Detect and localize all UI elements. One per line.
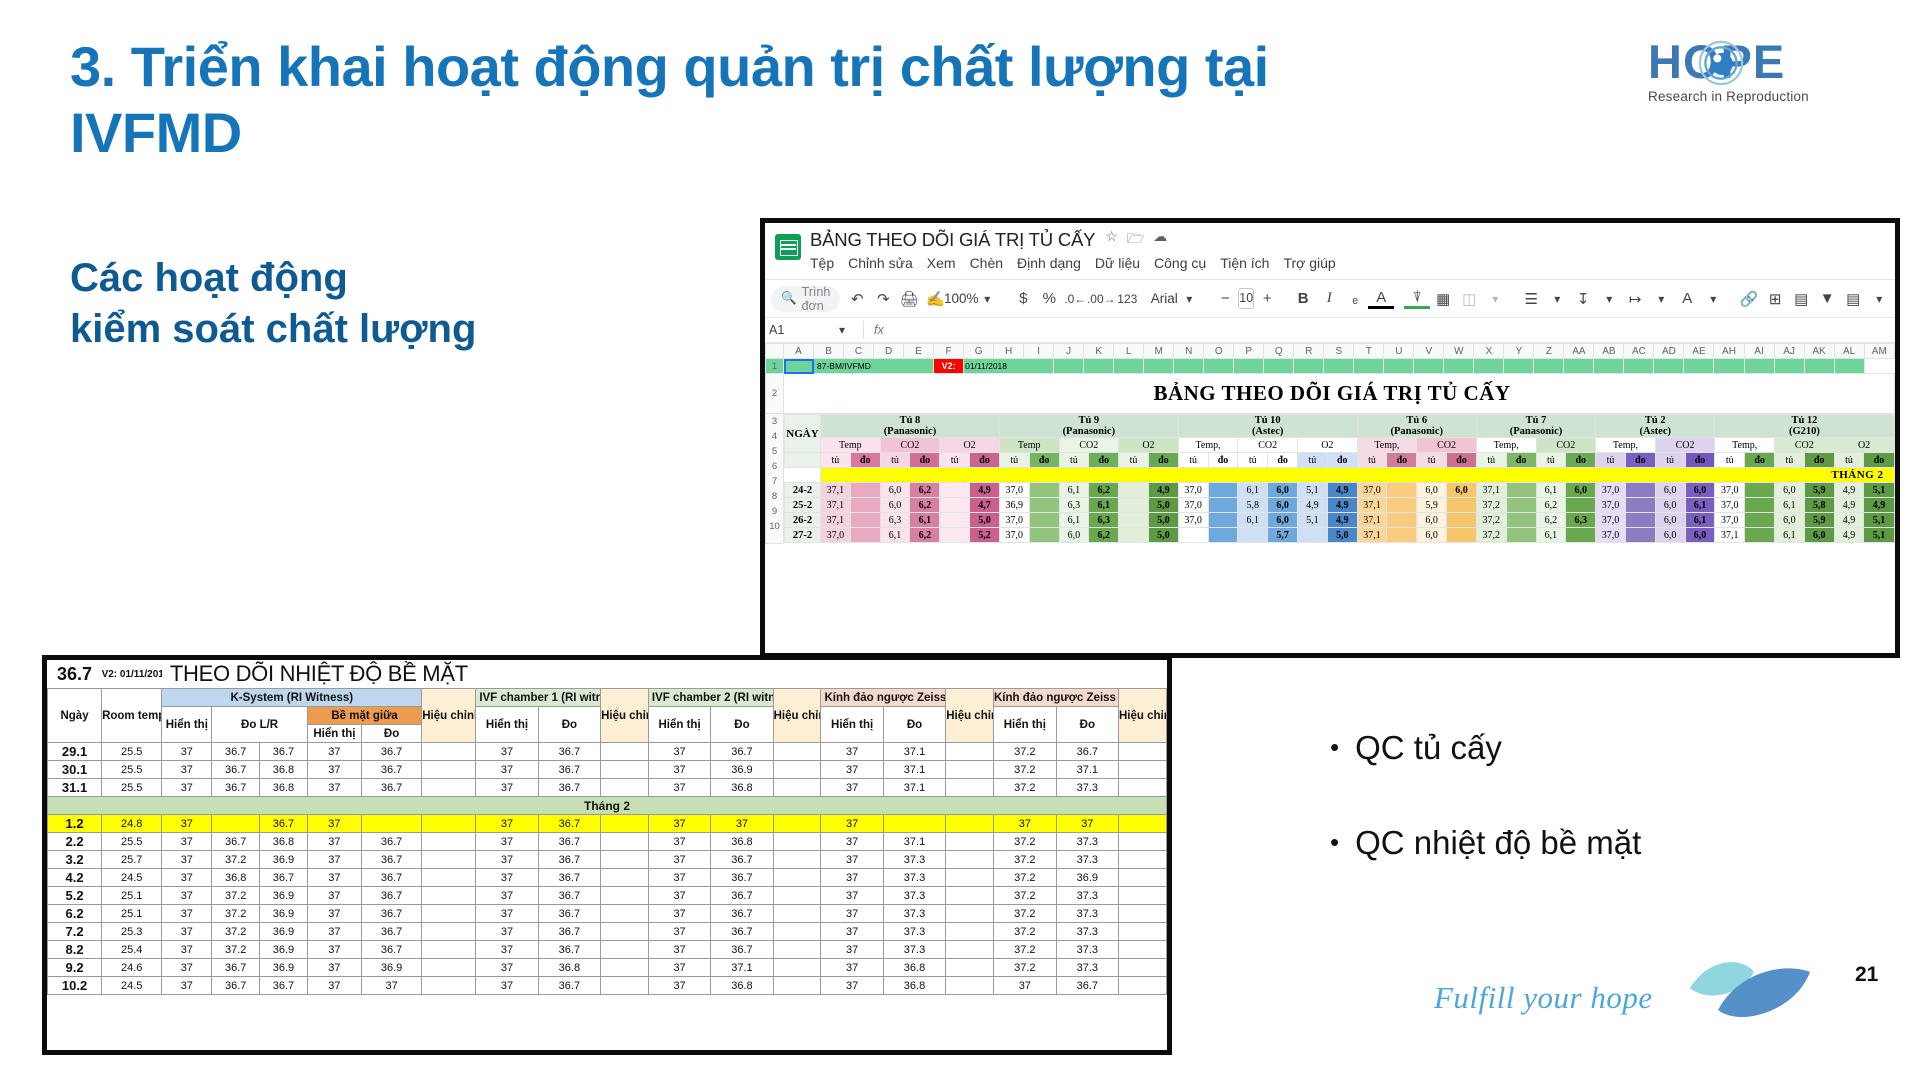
report-cell[interactable] xyxy=(1119,528,1149,543)
temp-cell[interactable] xyxy=(1119,815,1167,833)
temp-cell[interactable]: 36.9 xyxy=(361,959,421,977)
temp-cell[interactable]: 37.3 xyxy=(1056,851,1118,869)
temp-cell[interactable] xyxy=(1119,743,1167,761)
temp-cell[interactable]: 37 xyxy=(476,923,538,941)
temp-cell[interactable]: 37 xyxy=(361,977,421,995)
temp-cell[interactable] xyxy=(773,977,821,995)
sheet-row-1[interactable]: 187-BM/IVFMDV2:01/11/2018 xyxy=(766,359,1895,374)
report-cell[interactable]: 6,0 xyxy=(1655,513,1685,528)
report-cell[interactable]: 4,9 xyxy=(1834,528,1864,543)
temp-cell[interactable]: 37.3 xyxy=(1056,959,1118,977)
report-cell[interactable] xyxy=(1625,528,1655,543)
font-chevron-down-icon[interactable]: ▾ xyxy=(1176,285,1202,313)
report-data-row[interactable]: 24-237,16,06,24,937,06,16,24,937,06,16,0… xyxy=(785,483,1895,498)
text-wrap-icon[interactable]: ↦ xyxy=(1622,285,1648,313)
temp-cell-day[interactable]: 10.2 xyxy=(48,977,102,995)
temp-cell[interactable]: 37 xyxy=(821,905,883,923)
font-size-input[interactable]: 10 xyxy=(1238,288,1254,309)
temp-cell[interactable]: 36.8 xyxy=(212,869,260,887)
undo-icon[interactable]: ↶ xyxy=(844,285,870,313)
temp-cell[interactable]: 37 xyxy=(994,815,1057,833)
namebox-chevron-down-icon[interactable]: ▾ xyxy=(829,316,855,344)
temp-cell[interactable] xyxy=(946,851,994,869)
report-cell[interactable] xyxy=(940,513,970,528)
temp-cell[interactable]: 37.3 xyxy=(883,851,945,869)
temp-cell-day[interactable]: 4.2 xyxy=(48,869,102,887)
report-cell[interactable] xyxy=(1745,498,1775,513)
row-header-1[interactable]: 1 xyxy=(766,359,784,374)
column-header-s[interactable]: S xyxy=(1324,344,1354,359)
cell-empty[interactable] xyxy=(1414,359,1444,374)
functions-chevron-down-icon[interactable]: ▾ xyxy=(1866,285,1892,313)
row-header-group[interactable]: 345678910 xyxy=(766,414,784,544)
merge-cells-icon[interactable]: ◫ xyxy=(1456,285,1482,313)
temp-cell[interactable] xyxy=(422,941,476,959)
cell-a1[interactable] xyxy=(784,359,814,374)
temp-cell[interactable]: 36.7 xyxy=(361,869,421,887)
temp-cell[interactable]: 37 xyxy=(821,779,883,797)
temp-cell[interactable] xyxy=(601,743,649,761)
report-cell[interactable]: 37,0 xyxy=(1357,483,1387,498)
report-data-row[interactable]: 26-237,16,36,15,037,06,16,35,037,06,16,0… xyxy=(785,513,1895,528)
report-cell[interactable]: 6,0 xyxy=(1417,528,1447,543)
table-row[interactable]: 2.225.53736.736.83736.73736.73736.83737.… xyxy=(48,833,1167,851)
report-cell[interactable]: 6,1 xyxy=(1775,528,1805,543)
temp-cell-day[interactable]: 3.2 xyxy=(48,851,102,869)
report-cell-day[interactable]: 24-2 xyxy=(785,483,821,498)
temp-cell[interactable]: 36.8 xyxy=(883,977,945,995)
temp-cell[interactable]: 37.1 xyxy=(883,779,945,797)
report-cell[interactable]: 37,0 xyxy=(1178,513,1208,528)
temp-cell[interactable]: 37 xyxy=(711,815,773,833)
temp-cell[interactable]: 36.7 xyxy=(538,887,600,905)
temp-cell[interactable] xyxy=(946,761,994,779)
temp-cell[interactable]: 36.7 xyxy=(711,869,773,887)
temp-cell[interactable]: 37 xyxy=(476,959,538,977)
report-cell[interactable] xyxy=(1298,528,1328,543)
report-cell[interactable]: 37,0 xyxy=(821,528,851,543)
cell-empty[interactable] xyxy=(1594,359,1624,374)
report-cell[interactable]: 37,0 xyxy=(1178,483,1208,498)
temp-cell[interactable]: 37.3 xyxy=(883,887,945,905)
temp-cell[interactable]: 37 xyxy=(307,887,361,905)
cell-empty[interactable] xyxy=(1834,359,1864,374)
temp-cell[interactable]: 37 xyxy=(648,887,710,905)
cell-empty[interactable] xyxy=(1114,359,1144,374)
report-cell[interactable]: 37,2 xyxy=(1476,513,1506,528)
temp-cell[interactable]: 37 xyxy=(648,941,710,959)
temp-cell[interactable] xyxy=(422,743,476,761)
report-cell-day[interactable]: 27-2 xyxy=(785,528,821,543)
report-cell[interactable]: 6,0 xyxy=(1059,528,1089,543)
table-row[interactable]: 31.125.53736.736.83736.73736.73736.83737… xyxy=(48,779,1167,797)
temp-cell[interactable]: 37 xyxy=(162,815,212,833)
temp-cell[interactable] xyxy=(773,959,821,977)
temp-cell[interactable]: 36.8 xyxy=(260,833,308,851)
temp-cell[interactable] xyxy=(601,959,649,977)
report-cell[interactable]: 6,2 xyxy=(910,483,940,498)
temp-cell[interactable]: 37 xyxy=(162,923,212,941)
table-row[interactable]: 5.225.13737.236.93736.73736.73736.73737.… xyxy=(48,887,1167,905)
temp-cell[interactable]: 36.7 xyxy=(260,743,308,761)
report-cell[interactable]: 6,3 xyxy=(880,513,910,528)
temp-cell[interactable]: 37.2 xyxy=(994,833,1057,851)
temp-cell[interactable]: 37.3 xyxy=(883,941,945,959)
report-cell[interactable] xyxy=(1208,483,1238,498)
cell-empty[interactable] xyxy=(1774,359,1804,374)
temp-cell-roomtemp[interactable]: 25.1 xyxy=(102,905,162,923)
report-cell[interactable]: 6,0 xyxy=(1655,498,1685,513)
temp-cell[interactable]: 37 xyxy=(162,905,212,923)
move-to-folder-icon[interactable]: 🗁 xyxy=(1127,228,1144,252)
report-cell[interactable] xyxy=(940,498,970,513)
report-cell[interactable] xyxy=(940,483,970,498)
report-cell[interactable]: 6,1 xyxy=(1089,498,1119,513)
cell-empty[interactable] xyxy=(1654,359,1684,374)
temp-cell-day[interactable]: 9.2 xyxy=(48,959,102,977)
insert-chart-icon[interactable]: ▤ xyxy=(1788,285,1814,313)
report-cell[interactable] xyxy=(1447,498,1477,513)
column-header-n[interactable]: N xyxy=(1174,344,1204,359)
search-menus-box[interactable]: 🔍 Trình đơn xyxy=(771,286,840,312)
temp-cell[interactable]: 36.7 xyxy=(212,833,260,851)
temp-cell[interactable]: 37 xyxy=(476,743,538,761)
column-header-h[interactable]: H xyxy=(994,344,1024,359)
report-cell[interactable]: 5,9 xyxy=(1417,498,1447,513)
temp-cell[interactable] xyxy=(773,743,821,761)
report-cell-day[interactable]: 25-2 xyxy=(785,498,821,513)
report-cell[interactable]: 6,0 xyxy=(1775,483,1805,498)
temp-cell[interactable]: 37.2 xyxy=(212,887,260,905)
borders-icon[interactable]: ▦ xyxy=(1430,285,1456,313)
increase-decimal-icon[interactable]: .00→ xyxy=(1088,285,1114,313)
report-cell[interactable]: 6,0 xyxy=(880,498,910,513)
table-row[interactable]: 30.125.53736.736.83736.73736.73736.93737… xyxy=(48,761,1167,779)
temp-cell[interactable]: 37 xyxy=(307,851,361,869)
cell-empty[interactable] xyxy=(1234,359,1264,374)
column-header-ab[interactable]: AB xyxy=(1594,344,1624,359)
decrease-font-size-button[interactable]: − xyxy=(1212,285,1238,313)
report-cell[interactable]: 37,0 xyxy=(1596,513,1626,528)
report-cell[interactable]: 37,1 xyxy=(1357,498,1387,513)
report-cell[interactable] xyxy=(1029,483,1059,498)
report-cell[interactable] xyxy=(1447,528,1477,543)
temp-cell[interactable]: 37.2 xyxy=(994,905,1057,923)
temp-cell[interactable]: 36.7 xyxy=(361,923,421,941)
report-cell[interactable] xyxy=(850,513,880,528)
menu-item-chinh-sua[interactable]: Chỉnh sửa xyxy=(848,255,913,271)
report-cell[interactable]: 6,0 xyxy=(880,483,910,498)
menu-item-tep[interactable]: Tệp xyxy=(810,255,834,271)
temp-cell[interactable]: 36.7 xyxy=(538,761,600,779)
report-cell[interactable] xyxy=(1029,513,1059,528)
report-cell[interactable]: 6,0 xyxy=(1417,483,1447,498)
temp-cell[interactable]: 37.1 xyxy=(883,761,945,779)
report-cell[interactable]: 37,0 xyxy=(1596,498,1626,513)
report-cell[interactable]: 6,0 xyxy=(1685,483,1715,498)
report-cell[interactable]: 4,9 xyxy=(1148,483,1178,498)
cell-empty[interactable] xyxy=(1624,359,1654,374)
cell-empty[interactable] xyxy=(1354,359,1384,374)
report-cell[interactable] xyxy=(1506,483,1536,498)
cell-empty[interactable] xyxy=(1204,359,1234,374)
report-cell[interactable]: 4,9 xyxy=(970,483,1000,498)
report-cell[interactable]: 37,1 xyxy=(1476,483,1506,498)
table-row[interactable]: 4.224.53736.836.73736.73736.73736.73737.… xyxy=(48,869,1167,887)
column-header-z[interactable]: Z xyxy=(1534,344,1564,359)
currency-format-icon[interactable]: $ xyxy=(1010,285,1036,313)
sheets-toolbar[interactable]: 🔍 Trình đơn ↶ ↷ 🖨 ✍ 100% ▾ $ % .0← .00→ … xyxy=(765,279,1895,317)
report-cell[interactable]: 6,1 xyxy=(910,513,940,528)
report-cell[interactable]: 6,1 xyxy=(1536,528,1566,543)
cell-empty[interactable] xyxy=(1744,359,1774,374)
report-cell[interactable]: 6,1 xyxy=(1536,483,1566,498)
temp-cell[interactable] xyxy=(601,941,649,959)
temp-cell[interactable]: 37 xyxy=(307,761,361,779)
temp-cell[interactable]: 37 xyxy=(307,815,361,833)
temp-cell[interactable]: 37 xyxy=(821,833,883,851)
temp-cell[interactable]: 37.2 xyxy=(994,941,1057,959)
temp-cell[interactable] xyxy=(773,941,821,959)
temp-cell[interactable] xyxy=(1119,923,1167,941)
report-cell[interactable]: 5,1 xyxy=(1298,483,1328,498)
temp-cell[interactable]: 37 xyxy=(162,887,212,905)
report-cell[interactable] xyxy=(1506,498,1536,513)
temp-cell[interactable]: 36.8 xyxy=(538,959,600,977)
percent-format-icon[interactable]: % xyxy=(1036,285,1062,313)
temp-cell[interactable] xyxy=(946,887,994,905)
column-header-t[interactable]: T xyxy=(1354,344,1384,359)
menu-item-cong-cu[interactable]: Công cụ xyxy=(1154,255,1206,271)
temp-cell[interactable]: 37.2 xyxy=(212,923,260,941)
temp-cell[interactable]: 36.7 xyxy=(361,905,421,923)
temp-cell[interactable] xyxy=(601,851,649,869)
temp-cell[interactable] xyxy=(1119,761,1167,779)
cell-version-label[interactable]: V2: xyxy=(934,359,964,374)
temp-cell[interactable]: 37 xyxy=(307,959,361,977)
temp-cell[interactable]: 37 xyxy=(821,815,883,833)
temp-cell[interactable]: 37 xyxy=(648,743,710,761)
temp-cell[interactable] xyxy=(773,869,821,887)
menu-item-du-lieu[interactable]: Dữ liệu xyxy=(1095,255,1140,271)
zoom-level-label[interactable]: 100% xyxy=(948,285,974,313)
temp-cell[interactable]: 37 xyxy=(648,815,710,833)
cloud-saved-icon[interactable]: ☁ xyxy=(1153,228,1167,252)
cell-doc-code[interactable]: 87-BM/IVFMD xyxy=(814,359,934,374)
temp-cell-roomtemp[interactable]: 25.5 xyxy=(102,779,162,797)
column-header-u[interactable]: U xyxy=(1384,344,1414,359)
report-cell[interactable]: 6,1 xyxy=(1238,513,1268,528)
report-cell[interactable] xyxy=(1387,528,1417,543)
temp-cell[interactable]: 36.7 xyxy=(711,923,773,941)
temp-cell[interactable] xyxy=(422,959,476,977)
report-cell[interactable]: 6,1 xyxy=(880,528,910,543)
temp-cell[interactable]: 36.7 xyxy=(260,815,308,833)
temp-cell[interactable] xyxy=(946,959,994,977)
temp-cell-day[interactable]: 29.1 xyxy=(48,743,102,761)
temp-cell[interactable] xyxy=(601,761,649,779)
report-cell[interactable]: 37,0 xyxy=(999,513,1029,528)
temp-cell[interactable]: 37 xyxy=(821,743,883,761)
filter-icon[interactable]: ▼ xyxy=(1814,285,1840,313)
report-cell[interactable]: 6,0 xyxy=(1566,483,1596,498)
temp-cell[interactable] xyxy=(1119,851,1167,869)
sheets-grid[interactable]: ABCDEFGHIJKLMNOPQRSTUVWXYZAAABACADAEAHAI… xyxy=(765,343,1895,544)
temp-cell-roomtemp[interactable]: 25.1 xyxy=(102,887,162,905)
temp-cell[interactable]: 36.7 xyxy=(361,833,421,851)
temp-cell-day[interactable]: 5.2 xyxy=(48,887,102,905)
sheets-menubar[interactable]: Tệp Chỉnh sửa Xem Chèn Định dạng Dữ liệu… xyxy=(810,255,1336,271)
report-cell[interactable] xyxy=(850,483,880,498)
temp-cell[interactable]: 37 xyxy=(648,923,710,941)
column-header-c[interactable]: C xyxy=(844,344,874,359)
italic-icon[interactable]: I xyxy=(1316,285,1342,313)
report-cell[interactable]: 6,2 xyxy=(1089,528,1119,543)
temp-cell[interactable]: 37.2 xyxy=(994,851,1057,869)
report-cell[interactable]: 4,9 xyxy=(1834,483,1864,498)
temp-cell[interactable] xyxy=(1119,977,1167,995)
cell-empty[interactable] xyxy=(1444,359,1474,374)
temp-cell-day[interactable]: 6.2 xyxy=(48,905,102,923)
report-cell[interactable]: 5,1 xyxy=(1864,513,1894,528)
table-row[interactable]: 10.224.53736.736.737373736.73736.83736.8… xyxy=(48,977,1167,995)
temp-cell[interactable]: 36.7 xyxy=(212,743,260,761)
strikethrough-icon[interactable]: ₑ xyxy=(1342,285,1368,313)
cell-empty[interactable] xyxy=(1504,359,1534,374)
cell-empty[interactable] xyxy=(1054,359,1084,374)
temp-cell-day[interactable]: 31.1 xyxy=(48,779,102,797)
temp-cell[interactable]: 37 xyxy=(821,977,883,995)
column-header-aa[interactable]: AA xyxy=(1564,344,1594,359)
temp-cell[interactable]: 36.7 xyxy=(711,941,773,959)
temp-cell[interactable]: 36.7 xyxy=(361,761,421,779)
report-cell[interactable]: 37,0 xyxy=(1596,483,1626,498)
column-header-o[interactable]: O xyxy=(1204,344,1234,359)
temp-cell[interactable]: 36.8 xyxy=(883,959,945,977)
report-cell[interactable] xyxy=(1119,483,1149,498)
temp-cell-roomtemp[interactable]: 25.5 xyxy=(102,833,162,851)
column-header-l[interactable]: L xyxy=(1114,344,1144,359)
temp-cell[interactable]: 37.1 xyxy=(883,743,945,761)
temp-cell[interactable]: 37 xyxy=(1056,815,1118,833)
temp-cell[interactable]: 36.7 xyxy=(538,977,600,995)
cell-empty[interactable] xyxy=(1084,359,1114,374)
report-cell[interactable] xyxy=(1745,528,1775,543)
temp-cell[interactable]: 36.7 xyxy=(711,887,773,905)
temp-cell[interactable]: 37.3 xyxy=(1056,779,1118,797)
temp-cell[interactable] xyxy=(601,869,649,887)
temp-cell-roomtemp[interactable]: 24.6 xyxy=(102,959,162,977)
temp-cell[interactable] xyxy=(946,779,994,797)
temp-cell[interactable]: 36.7 xyxy=(538,851,600,869)
report-cell[interactable]: 6,0 xyxy=(1775,513,1805,528)
report-cell[interactable] xyxy=(1238,528,1268,543)
row-header-2[interactable]: 2 xyxy=(766,374,784,414)
temp-cell[interactable] xyxy=(601,887,649,905)
temp-cell[interactable] xyxy=(773,905,821,923)
temp-cell[interactable]: 37 xyxy=(162,869,212,887)
temp-cell-roomtemp[interactable]: 25.7 xyxy=(102,851,162,869)
temp-cell[interactable] xyxy=(946,743,994,761)
temp-cell[interactable]: 36.7 xyxy=(260,869,308,887)
report-cell[interactable]: 5,0 xyxy=(1148,513,1178,528)
select-all-corner[interactable] xyxy=(766,344,784,359)
temp-cell[interactable]: 36.9 xyxy=(260,851,308,869)
temp-cell[interactable]: 37.3 xyxy=(883,923,945,941)
report-cell[interactable]: 6,3 xyxy=(1059,498,1089,513)
temp-cell[interactable] xyxy=(946,833,994,851)
temp-cell-roomtemp[interactable]: 24.5 xyxy=(102,977,162,995)
report-cell-day[interactable]: 26-2 xyxy=(785,513,821,528)
report-cell[interactable]: 6,1 xyxy=(1685,498,1715,513)
column-header-b[interactable]: B xyxy=(814,344,844,359)
table-row[interactable]: 6.225.13737.236.93736.73736.73736.73737.… xyxy=(48,905,1167,923)
report-cell[interactable]: 4,9 xyxy=(1864,498,1894,513)
temp-cell[interactable] xyxy=(422,761,476,779)
column-header-g[interactable]: G xyxy=(964,344,994,359)
temp-cell[interactable]: 37.2 xyxy=(212,905,260,923)
temp-cell[interactable]: 36.7 xyxy=(212,779,260,797)
temp-cell[interactable]: 36.8 xyxy=(711,833,773,851)
column-header-k[interactable]: K xyxy=(1084,344,1114,359)
temp-cell[interactable]: 37.2 xyxy=(994,869,1057,887)
temp-cell-day[interactable]: 1.2 xyxy=(48,815,102,833)
temp-cell[interactable]: 37.2 xyxy=(994,779,1057,797)
report-cell[interactable]: 5,7 xyxy=(1268,528,1298,543)
report-cell[interactable]: 37,0 xyxy=(999,528,1029,543)
menu-item-tro-giup[interactable]: Trợ giúp xyxy=(1283,255,1335,271)
report-cell[interactable] xyxy=(1566,498,1596,513)
temp-cell[interactable] xyxy=(1119,869,1167,887)
functions-icon[interactable]: ▤ xyxy=(1840,285,1866,313)
temp-cell[interactable]: 37 xyxy=(476,941,538,959)
rotation-chevron-down-icon[interactable]: ▾ xyxy=(1700,285,1726,313)
report-cell[interactable]: 37,0 xyxy=(1715,483,1745,498)
report-cell[interactable]: 6,0 xyxy=(1655,528,1685,543)
cell-empty[interactable] xyxy=(1714,359,1744,374)
cell-empty[interactable] xyxy=(1174,359,1204,374)
zoom-chevron-down-icon[interactable]: ▾ xyxy=(974,285,1000,313)
temp-cell[interactable] xyxy=(1119,941,1167,959)
print-icon[interactable]: 🖨 xyxy=(896,285,922,313)
temp-cell[interactable]: 37 xyxy=(648,977,710,995)
temp-cell[interactable]: 37.2 xyxy=(994,959,1057,977)
temp-cell[interactable]: 37 xyxy=(162,977,212,995)
temp-cell[interactable] xyxy=(422,851,476,869)
temp-cell[interactable] xyxy=(601,779,649,797)
report-cell[interactable]: 4,9 xyxy=(1834,498,1864,513)
report-cell[interactable]: 6,0 xyxy=(1268,513,1298,528)
report-cell[interactable]: 4,9 xyxy=(1327,513,1357,528)
temp-cell[interactable] xyxy=(946,869,994,887)
temp-cell[interactable]: 37 xyxy=(476,761,538,779)
text-color-icon[interactable]: A xyxy=(1368,289,1394,309)
temp-cell[interactable]: 37.3 xyxy=(883,869,945,887)
report-cell[interactable]: 6,1 xyxy=(1059,483,1089,498)
temp-cell[interactable]: 37 xyxy=(162,851,212,869)
temp-cell[interactable]: 37.1 xyxy=(1056,761,1118,779)
temp-cell[interactable]: 36.9 xyxy=(260,941,308,959)
column-header-ak[interactable]: AK xyxy=(1804,344,1834,359)
report-cell[interactable] xyxy=(1447,513,1477,528)
column-header-w[interactable]: W xyxy=(1444,344,1474,359)
table-row[interactable]: 3.225.73737.236.93736.73736.73736.73737.… xyxy=(48,851,1167,869)
menu-item-xem[interactable]: Xem xyxy=(927,255,956,271)
report-cell[interactable]: 4,7 xyxy=(970,498,1000,513)
temp-cell[interactable]: 36.8 xyxy=(260,761,308,779)
temp-cell[interactable]: 36.7 xyxy=(260,977,308,995)
temp-cell[interactable]: 37.3 xyxy=(883,905,945,923)
